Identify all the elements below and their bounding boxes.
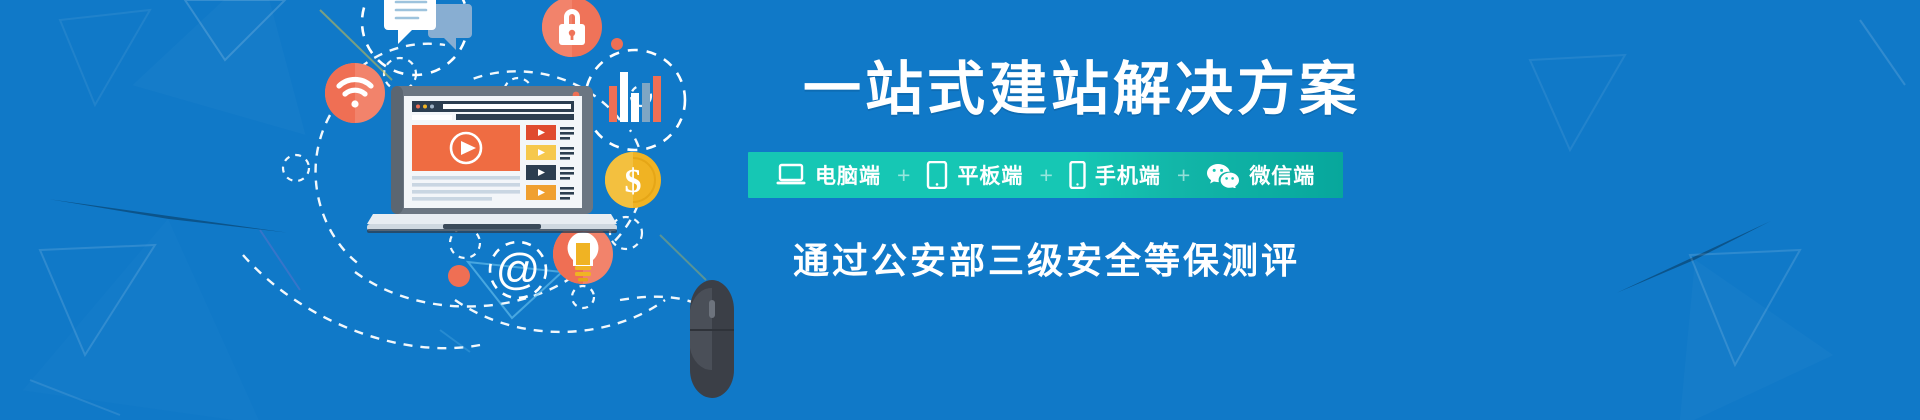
device-label: 微信端 — [1249, 160, 1315, 190]
badge-separator: + — [1171, 164, 1196, 187]
money-coin-badge: $ — [605, 152, 661, 208]
device-label: 平板端 — [957, 160, 1023, 190]
dollar-symbol: $ — [625, 163, 642, 200]
wechat-icon — [1206, 162, 1240, 188]
laptop-icon — [776, 163, 806, 187]
device-support-bar: 电脑端 + 平板端 + — [748, 152, 1343, 198]
device-item-desktop: 电脑端 — [766, 160, 891, 190]
device-label: 电脑端 — [815, 160, 881, 190]
bar-chart-icon — [609, 72, 661, 122]
phone-icon — [1069, 161, 1086, 189]
wifi-badge — [325, 63, 385, 123]
device-item-wechat: 微信端 — [1196, 160, 1325, 190]
chat-bubble-icon — [384, 0, 472, 50]
laptop-base — [367, 214, 617, 224]
device-item-tablet: 平板端 — [916, 160, 1033, 190]
device-item-mobile: 手机端 — [1059, 160, 1171, 190]
device-label: 手机端 — [1095, 160, 1161, 190]
chat-bubble-badge — [362, 0, 472, 75]
page-title: 一站式建站解决方案 — [803, 58, 1361, 122]
laptop-mockup — [367, 86, 617, 233]
mouse-icon — [690, 280, 734, 398]
badge-separator: + — [891, 164, 916, 187]
hero-illustration: $ @ — [0, 0, 780, 420]
badge-separator: + — [1033, 164, 1058, 187]
banner-subtitle: 通过公安部三级安全等保测评 — [793, 232, 1300, 284]
bar-chart-badge — [585, 50, 685, 150]
at-sign-badge: @ — [490, 242, 546, 298]
lock-badge — [542, 0, 602, 57]
at-symbol: @ — [496, 245, 541, 294]
promo-banner: $ @ — [0, 0, 1920, 420]
tablet-icon — [926, 161, 948, 189]
banner-content: 一站式建站解决方案 电脑端 + — [748, 0, 1848, 420]
